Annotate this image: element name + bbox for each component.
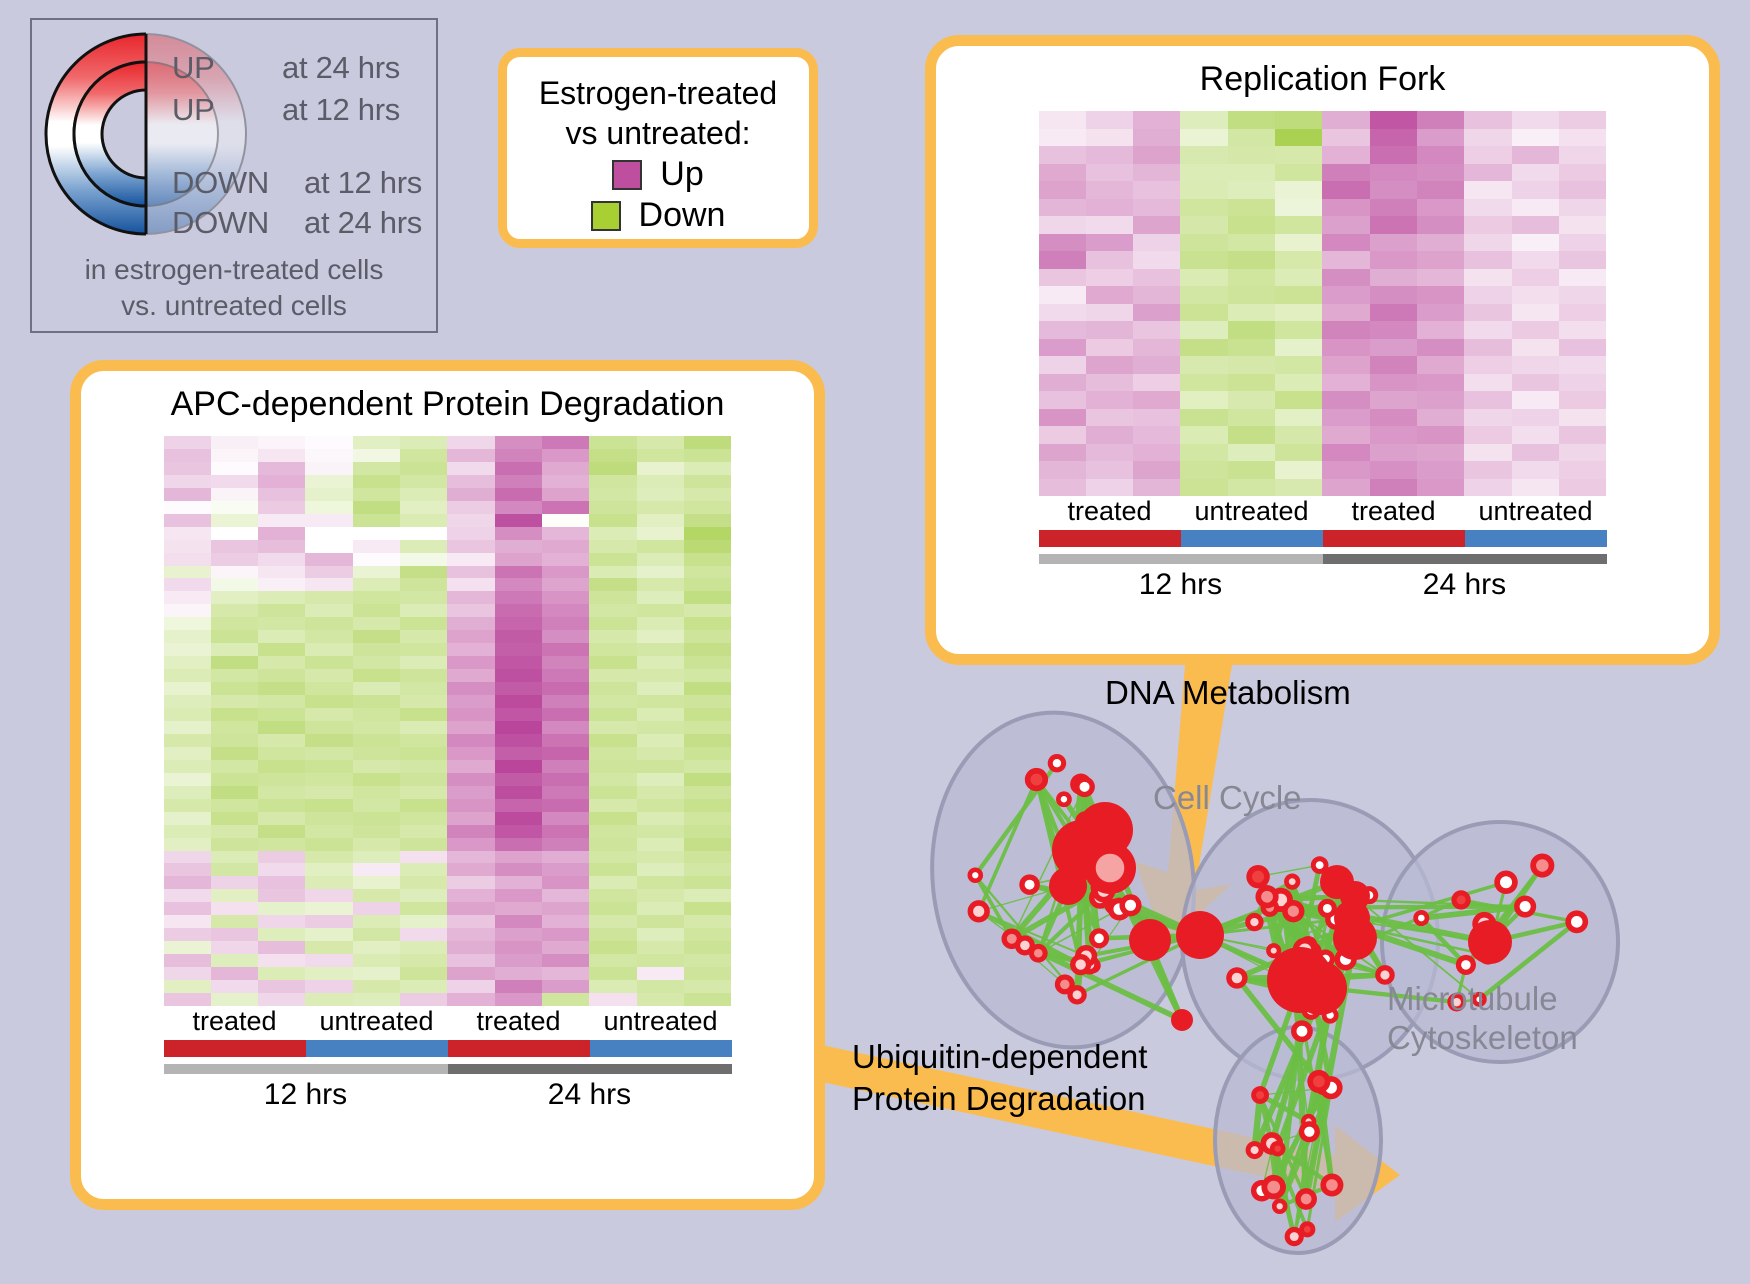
heatmap-cell bbox=[1417, 286, 1464, 304]
heatmap-cell bbox=[1180, 339, 1227, 357]
heatmap-cell bbox=[1559, 216, 1606, 234]
heatmap-cell bbox=[637, 941, 684, 954]
heatmap-cell bbox=[1512, 374, 1559, 392]
ring-row-1-direction: UP bbox=[172, 92, 214, 128]
heatmap-cell bbox=[400, 993, 447, 1006]
heatmap-cell bbox=[1039, 356, 1086, 374]
heatmap-cell bbox=[305, 656, 352, 669]
treatment-bar-segment bbox=[590, 1040, 732, 1057]
heatmap-cell bbox=[684, 838, 731, 851]
heatmap-cell bbox=[164, 475, 211, 488]
heatmap-cell bbox=[258, 540, 305, 553]
heatmap-cell bbox=[353, 980, 400, 993]
heatmap-cell bbox=[495, 928, 542, 941]
network-node-core bbox=[1536, 859, 1548, 871]
heatmap-cell bbox=[400, 915, 447, 928]
heatmap-cell bbox=[211, 825, 258, 838]
heatmap-cell bbox=[353, 799, 400, 812]
heatmap-cell bbox=[542, 669, 589, 682]
time-bar-segment bbox=[164, 1064, 448, 1074]
heatmap-cell bbox=[305, 604, 352, 617]
heatmap-cell bbox=[542, 695, 589, 708]
heatmap-cell bbox=[589, 475, 636, 488]
heatmap-cell bbox=[353, 721, 400, 734]
heatmap-cell bbox=[637, 553, 684, 566]
heatmap-cell bbox=[1133, 409, 1180, 427]
cluster-label-cytoskeleton: Cytoskeleton bbox=[1387, 1018, 1578, 1058]
heatmap-cell bbox=[684, 475, 731, 488]
heatmap-cell bbox=[1559, 111, 1606, 129]
heatmap-cell bbox=[637, 799, 684, 812]
heatmap-cell bbox=[1322, 409, 1369, 427]
heatmap-cell bbox=[1133, 374, 1180, 392]
heatmap-cell bbox=[637, 954, 684, 967]
heatmap-cell bbox=[589, 721, 636, 734]
heatmap-cell bbox=[305, 889, 352, 902]
heatmap-cell bbox=[1039, 426, 1086, 444]
heatmap-cell bbox=[1417, 304, 1464, 322]
heatmap-cell bbox=[637, 902, 684, 915]
heatmap-cell bbox=[1228, 251, 1275, 269]
time-bar-segment bbox=[1323, 554, 1607, 564]
network-node[interactable] bbox=[1333, 916, 1377, 960]
heatmap-cell bbox=[1133, 321, 1180, 339]
heatmap-cell bbox=[637, 838, 684, 851]
heatmap-cell bbox=[684, 604, 731, 617]
heatmap-cell bbox=[1512, 304, 1559, 322]
treatment-label: treated bbox=[1039, 496, 1181, 527]
heatmap-cell bbox=[1417, 129, 1464, 147]
heatmap-cell bbox=[684, 786, 731, 799]
heatmap-cell bbox=[1086, 356, 1133, 374]
axis-apc-degradation: treateduntreatedtreateduntreated12 hrs24… bbox=[164, 1006, 732, 1112]
treatment-label: untreated bbox=[306, 1006, 448, 1037]
heatmap-cell bbox=[211, 734, 258, 747]
heatmap-cell bbox=[400, 851, 447, 864]
heatmap-cell bbox=[1417, 391, 1464, 409]
heatmap-cell bbox=[637, 773, 684, 786]
heatmap-cell bbox=[1180, 164, 1227, 182]
heatmap-cell bbox=[447, 604, 494, 617]
heatmap-cell bbox=[258, 928, 305, 941]
heatmap-cell bbox=[684, 876, 731, 889]
heatmap-cell bbox=[211, 747, 258, 760]
heatmap-cell bbox=[164, 786, 211, 799]
treatment-color-bar bbox=[1039, 530, 1607, 547]
heatmap-cell bbox=[211, 566, 258, 579]
cluster-label-dna-metabolism: DNA Metabolism bbox=[1105, 673, 1351, 713]
heatmap-cell bbox=[211, 514, 258, 527]
heatmap-cell bbox=[1417, 181, 1464, 199]
heatmap-cell bbox=[211, 993, 258, 1006]
network-node-core bbox=[1500, 876, 1512, 888]
heatmap-cell bbox=[542, 449, 589, 462]
heatmap-cell bbox=[164, 954, 211, 967]
network-node[interactable] bbox=[1293, 961, 1347, 1015]
treatment-bar-segment bbox=[448, 1040, 590, 1057]
heatmap-cell bbox=[258, 773, 305, 786]
heatmap-cell bbox=[589, 799, 636, 812]
heatmap-cell bbox=[1228, 111, 1275, 129]
heatmap-cell bbox=[1464, 111, 1511, 129]
heatmap-cell bbox=[353, 708, 400, 721]
heatmap-cell bbox=[258, 967, 305, 980]
heatmap-cell bbox=[1417, 356, 1464, 374]
heatmap-cell bbox=[1559, 321, 1606, 339]
heatmap-cell bbox=[353, 747, 400, 760]
heatmap-cell bbox=[447, 902, 494, 915]
heatmap-cell bbox=[447, 915, 494, 928]
heatmap-cell bbox=[211, 501, 258, 514]
heatmap-cell bbox=[447, 980, 494, 993]
heatmap-cell bbox=[589, 747, 636, 760]
heatmap-cell bbox=[589, 863, 636, 876]
network-node[interactable] bbox=[1049, 867, 1087, 905]
treatment-group-labels: treateduntreatedtreateduntreated bbox=[164, 1006, 732, 1037]
heatmap-cell bbox=[684, 591, 731, 604]
heatmap-cell bbox=[684, 760, 731, 773]
heatmap-cell bbox=[305, 669, 352, 682]
network-node-core bbox=[1267, 1181, 1280, 1194]
heatmap-cell bbox=[1559, 426, 1606, 444]
heatmap-cell bbox=[1133, 216, 1180, 234]
heatmap-cell bbox=[1370, 426, 1417, 444]
heatmap-cell bbox=[1512, 321, 1559, 339]
heatmap-cell bbox=[1275, 199, 1322, 217]
heatmap-cell bbox=[353, 578, 400, 591]
heatmap-cell bbox=[164, 669, 211, 682]
heatmap-cell bbox=[1228, 479, 1275, 497]
heatmap-cell bbox=[684, 812, 731, 825]
heatmap-cell bbox=[495, 591, 542, 604]
heatmap-cell bbox=[447, 786, 494, 799]
heatmap-cell bbox=[1086, 111, 1133, 129]
heatmap-cell bbox=[1039, 409, 1086, 427]
heatmap-cell bbox=[353, 604, 400, 617]
heatmap-cell bbox=[637, 993, 684, 1006]
heatmap-cell bbox=[1180, 199, 1227, 217]
heatmap-cell bbox=[495, 643, 542, 656]
heatmap-cell bbox=[400, 838, 447, 851]
heatmap-cell bbox=[353, 838, 400, 851]
heatmap-cell bbox=[353, 993, 400, 1006]
heatmap-cell bbox=[353, 669, 400, 682]
heatmap-cell bbox=[400, 747, 447, 760]
network-node-core bbox=[1232, 973, 1243, 984]
heatmap-cell bbox=[400, 540, 447, 553]
heatmap-cell bbox=[400, 812, 447, 825]
heatmap-cell bbox=[1180, 479, 1227, 497]
heatmap-cell bbox=[447, 941, 494, 954]
heatmap-cell bbox=[1228, 339, 1275, 357]
heatmap-cell bbox=[1559, 339, 1606, 357]
heatmap-cell bbox=[1275, 164, 1322, 182]
heatmap-cell bbox=[447, 617, 494, 630]
heatmap-cell bbox=[211, 954, 258, 967]
heatmap-cell bbox=[447, 747, 494, 760]
heatmap-cell bbox=[589, 578, 636, 591]
heatmap-cell bbox=[495, 488, 542, 501]
network-node-core bbox=[1288, 906, 1299, 917]
heatmap-cell bbox=[447, 475, 494, 488]
heatmap-cell bbox=[637, 475, 684, 488]
heatmap-cell bbox=[637, 812, 684, 825]
heatmap-cell bbox=[1322, 321, 1369, 339]
heatmap-cell bbox=[495, 578, 542, 591]
heatmap-cell bbox=[495, 915, 542, 928]
heatmap-cell bbox=[400, 449, 447, 462]
updown-title-line-1: Estrogen-treated bbox=[539, 73, 777, 113]
network-node[interactable] bbox=[1176, 911, 1224, 959]
heatmap-cell bbox=[258, 993, 305, 1006]
heatmap-cell bbox=[1512, 129, 1559, 147]
heatmap-cell bbox=[1228, 374, 1275, 392]
network-node-core bbox=[1323, 904, 1332, 913]
down-color-swatch bbox=[591, 201, 621, 231]
heatmap-cell bbox=[164, 566, 211, 579]
heatmap-cell bbox=[164, 812, 211, 825]
heatmap-cell bbox=[305, 812, 352, 825]
heatmap-cell bbox=[1559, 444, 1606, 462]
heatmap-cell bbox=[637, 760, 684, 773]
heatmap-cell bbox=[589, 617, 636, 630]
time-label: 12 hrs bbox=[164, 1078, 448, 1112]
heatmap-cell bbox=[637, 501, 684, 514]
heatmap-cell bbox=[589, 591, 636, 604]
heatmap-cell bbox=[1228, 391, 1275, 409]
heatmap-cell bbox=[495, 682, 542, 695]
heatmap-cell bbox=[1086, 321, 1133, 339]
heatmap-cell bbox=[1512, 251, 1559, 269]
heatmap-cell bbox=[1039, 286, 1086, 304]
heatmap-cell bbox=[542, 876, 589, 889]
network-node-core bbox=[1020, 941, 1030, 951]
heatmap-cell bbox=[589, 553, 636, 566]
heatmap-cell bbox=[1086, 391, 1133, 409]
heatmap-cell bbox=[1228, 444, 1275, 462]
heatmap-cell bbox=[1464, 234, 1511, 252]
heatmap-cell bbox=[684, 553, 731, 566]
network-node[interactable] bbox=[1468, 920, 1512, 964]
heatmap-cell bbox=[1370, 111, 1417, 129]
heatmap-cell bbox=[1370, 444, 1417, 462]
heatmap-cell bbox=[495, 475, 542, 488]
heatmap-cell bbox=[1370, 216, 1417, 234]
heatmap-cell bbox=[542, 527, 589, 540]
heatmap-cell bbox=[684, 708, 731, 721]
heatmap-cell bbox=[353, 941, 400, 954]
heatmap-cell bbox=[447, 462, 494, 475]
network-node-core bbox=[972, 872, 978, 878]
heatmap-cell bbox=[353, 501, 400, 514]
network-node-core bbox=[1252, 871, 1264, 883]
cluster-label-ubiquitin-line-1: Ubiquitin-dependent bbox=[852, 1037, 1147, 1077]
heatmap-cell bbox=[447, 643, 494, 656]
network-node-core bbox=[1461, 960, 1471, 970]
heatmap-cell bbox=[1180, 269, 1227, 287]
heatmap-cell bbox=[1464, 374, 1511, 392]
heatmap-cell bbox=[305, 773, 352, 786]
network-node-core bbox=[1316, 861, 1324, 869]
cluster-label-ubiquitin-line-2: Protein Degradation bbox=[852, 1079, 1146, 1119]
heatmap-cell bbox=[1322, 129, 1369, 147]
heatmap-cell bbox=[400, 954, 447, 967]
heatmap-cell bbox=[305, 954, 352, 967]
heatmap-cell bbox=[305, 708, 352, 721]
heatmap-cell bbox=[353, 773, 400, 786]
heatmap-cell bbox=[542, 954, 589, 967]
heatmap-cell bbox=[1559, 269, 1606, 287]
heatmap-cell bbox=[164, 540, 211, 553]
heatmap-cell bbox=[637, 863, 684, 876]
heatmap-cell bbox=[258, 630, 305, 643]
heatmap-cell bbox=[1559, 409, 1606, 427]
heatmap-cell bbox=[1133, 304, 1180, 322]
heatmap-cell bbox=[542, 747, 589, 760]
heatmap-cell bbox=[589, 889, 636, 902]
heatmap-cell bbox=[305, 591, 352, 604]
heatmap-cell bbox=[400, 591, 447, 604]
heatmap-cell bbox=[684, 773, 731, 786]
heatmap-cell bbox=[164, 695, 211, 708]
heatmap-cell bbox=[447, 967, 494, 980]
heatmap-cell bbox=[495, 553, 542, 566]
heatmap-cell bbox=[542, 578, 589, 591]
heatmap-cell bbox=[589, 993, 636, 1006]
heatmap-cell bbox=[211, 980, 258, 993]
treatment-bar-segment bbox=[1039, 530, 1181, 547]
network-node[interactable] bbox=[1129, 919, 1171, 961]
treatment-bar-segment bbox=[164, 1040, 306, 1057]
treatment-label: treated bbox=[164, 1006, 306, 1037]
heatmap-cell bbox=[305, 993, 352, 1006]
heatmap-cell bbox=[164, 643, 211, 656]
network-node-core bbox=[1007, 934, 1017, 944]
heatmap-cell bbox=[353, 436, 400, 449]
heatmap-cell bbox=[1275, 356, 1322, 374]
heatmap-cell bbox=[684, 643, 731, 656]
heatmap-cell bbox=[1133, 181, 1180, 199]
heatmap-cell bbox=[1322, 164, 1369, 182]
panel-apc-degradation: APC-dependent Protein Degradation treate… bbox=[70, 360, 825, 1210]
heatmap-cell bbox=[305, 825, 352, 838]
heatmap-cell bbox=[1228, 269, 1275, 287]
heatmap-cell bbox=[1133, 356, 1180, 374]
heatmap-cell bbox=[1275, 269, 1322, 287]
heatmap-cell bbox=[1275, 374, 1322, 392]
network-node-core bbox=[1025, 880, 1035, 890]
heatmap-cell bbox=[258, 838, 305, 851]
heatmap-cell bbox=[1322, 426, 1369, 444]
heatmap-cell bbox=[211, 656, 258, 669]
heatmap-cell bbox=[400, 643, 447, 656]
heatmap-cell bbox=[1086, 234, 1133, 252]
heatmap-cell bbox=[353, 760, 400, 773]
heatmap-cell bbox=[258, 954, 305, 967]
heatmap-cell bbox=[211, 799, 258, 812]
heatmap-cell bbox=[637, 747, 684, 760]
network-node-core bbox=[1096, 854, 1125, 883]
heatmap-cell bbox=[542, 604, 589, 617]
heatmap-cell bbox=[637, 462, 684, 475]
heatmap-cell bbox=[447, 669, 494, 682]
heatmap-cell bbox=[1228, 164, 1275, 182]
heatmap-cell bbox=[1180, 181, 1227, 199]
network-node[interactable] bbox=[1171, 1009, 1193, 1031]
heatmap-cell bbox=[1370, 479, 1417, 497]
heatmap-cell bbox=[1559, 374, 1606, 392]
heatmap-cell bbox=[258, 889, 305, 902]
heatmap-cell bbox=[1228, 426, 1275, 444]
heatmap-cell bbox=[589, 876, 636, 889]
heatmap-cell bbox=[353, 656, 400, 669]
expression-ring-legend: UP at 24 hrs UP at 12 hrs DOWN at 12 hrs… bbox=[30, 18, 438, 333]
network-node-core bbox=[1125, 900, 1136, 911]
heatmap-cell bbox=[1086, 269, 1133, 287]
heatmap-cell bbox=[589, 540, 636, 553]
heatmap-cell bbox=[258, 980, 305, 993]
heatmap-cell bbox=[164, 656, 211, 669]
heatmap-cell bbox=[1275, 251, 1322, 269]
heatmap-cell bbox=[400, 462, 447, 475]
heatmap-cell bbox=[1417, 321, 1464, 339]
heatmap-cell bbox=[1417, 164, 1464, 182]
heatmap-cell bbox=[684, 915, 731, 928]
heatmap-cell bbox=[542, 825, 589, 838]
heatmap-cell bbox=[353, 475, 400, 488]
heatmap-cell bbox=[542, 915, 589, 928]
heatmap-cell bbox=[258, 462, 305, 475]
treatment-label: untreated bbox=[590, 1006, 732, 1037]
ring-row-1-time: at 12 hrs bbox=[282, 92, 400, 128]
heatmap-cell bbox=[1275, 129, 1322, 147]
treatment-bar-segment bbox=[306, 1040, 448, 1057]
ring-row-0-time: at 24 hrs bbox=[282, 50, 400, 86]
heatmap-cell bbox=[447, 682, 494, 695]
heatmap-cell bbox=[1133, 391, 1180, 409]
heatmap-cell bbox=[1133, 286, 1180, 304]
heatmap-cell bbox=[684, 682, 731, 695]
heatmap-cell bbox=[353, 915, 400, 928]
heatmap-cell bbox=[305, 436, 352, 449]
legend-item-down: Down bbox=[591, 196, 726, 235]
heatmap-cell bbox=[211, 449, 258, 462]
heatmap-cell bbox=[305, 514, 352, 527]
heatmap-cell bbox=[164, 928, 211, 941]
network-node-core bbox=[1075, 959, 1085, 969]
network-graph bbox=[900, 690, 1750, 1279]
heatmap-cell bbox=[1464, 129, 1511, 147]
heatmap-cell bbox=[353, 695, 400, 708]
heatmap-cell bbox=[258, 876, 305, 889]
heatmap-cell bbox=[305, 721, 352, 734]
heatmap-cell bbox=[1370, 129, 1417, 147]
treatment-label: treated bbox=[448, 1006, 590, 1037]
heatmap-cell bbox=[447, 954, 494, 967]
heatmap-cell bbox=[258, 915, 305, 928]
heatmap-cell bbox=[258, 799, 305, 812]
heatmap-cell bbox=[400, 786, 447, 799]
heatmap-cell bbox=[589, 915, 636, 928]
heatmap-cell bbox=[211, 604, 258, 617]
heatmap-cell bbox=[164, 682, 211, 695]
heatmap-cell bbox=[353, 786, 400, 799]
heatmap-cell bbox=[400, 566, 447, 579]
heatmap-cell bbox=[684, 993, 731, 1006]
heatmap-cell bbox=[589, 462, 636, 475]
heatmap-cell bbox=[400, 721, 447, 734]
up-color-swatch bbox=[612, 160, 642, 190]
